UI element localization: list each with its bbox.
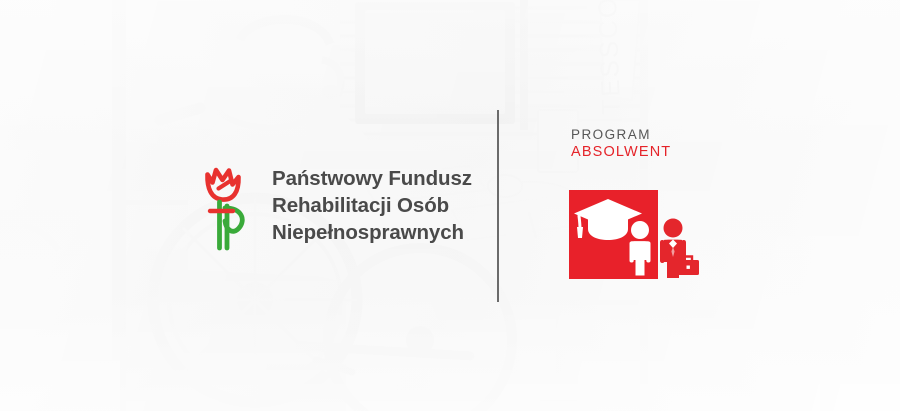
businessperson-with-briefcase-icon <box>660 219 699 279</box>
program-label: PROGRAM <box>571 126 671 143</box>
program-absolwent-icon[interactable] <box>569 190 704 282</box>
svg-text:TESSCO: TESSCO <box>592 0 626 115</box>
pfron-line-2: Rehabilitacji Osób <box>272 192 472 219</box>
banner-canvas: TESSCO <box>0 0 900 411</box>
pfron-line-3: Niepełnosprawnych <box>272 219 472 246</box>
program-caption: PROGRAM ABSOLWENT <box>571 126 671 162</box>
pfron-line-1: Państwowy Fundusz <box>272 165 472 192</box>
vertical-divider <box>497 110 499 302</box>
pfron-logo-lockup[interactable]: Państwowy Fundusz Rehabilitacji Osób Nie… <box>198 158 472 253</box>
pfron-wordmark: Państwowy Fundusz Rehabilitacji Osób Nie… <box>272 165 472 247</box>
pfron-tulip-logo-icon <box>198 158 256 253</box>
program-name: ABSOLWENT <box>571 143 671 162</box>
